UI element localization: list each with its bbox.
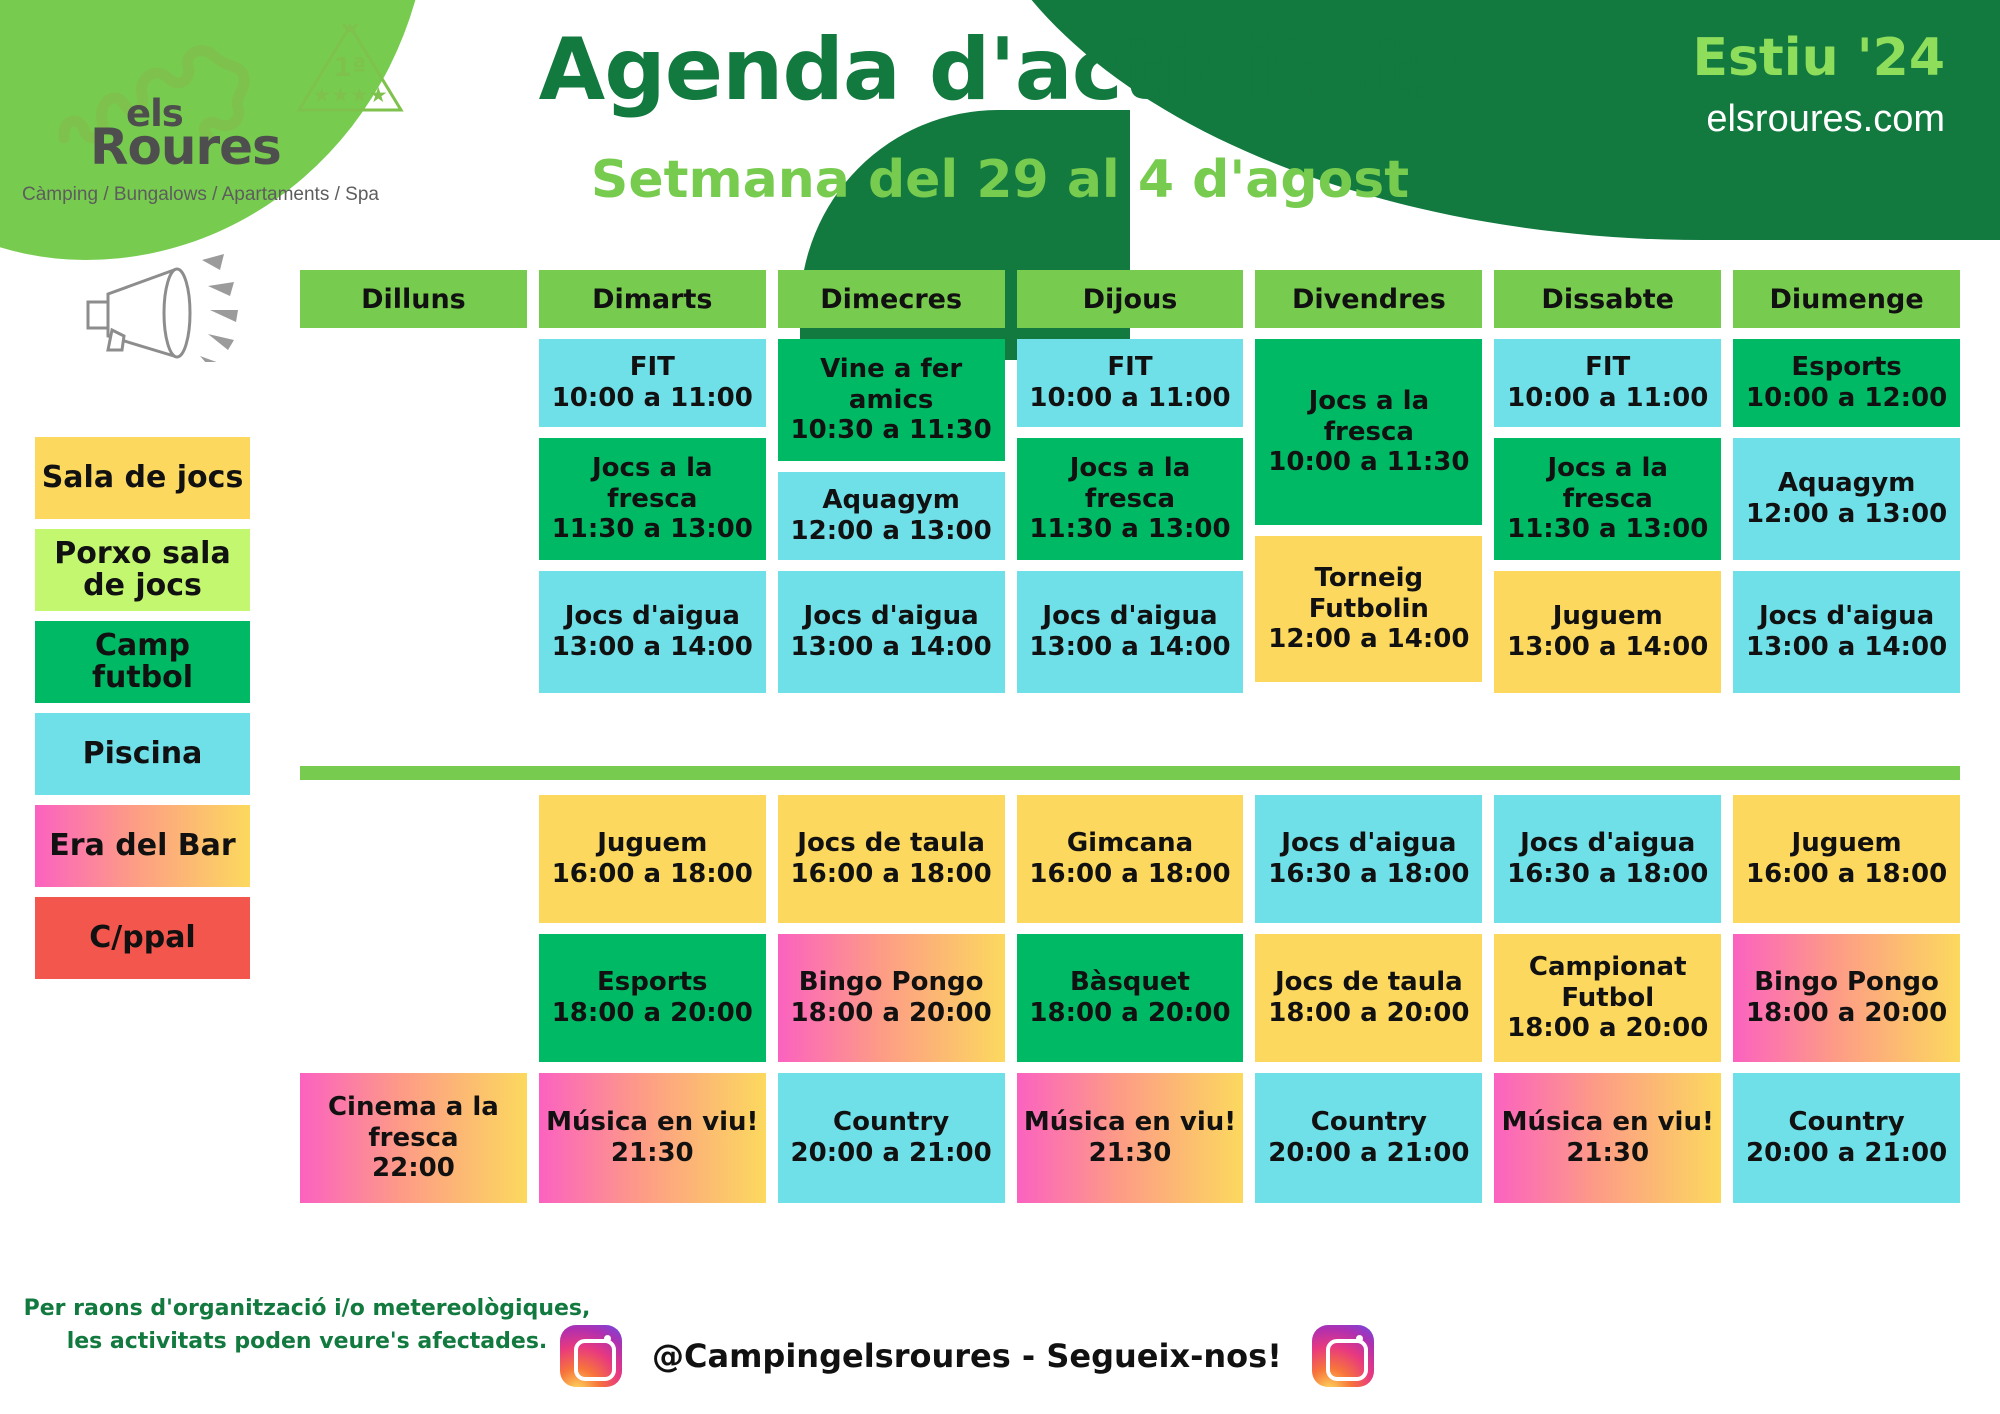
day-header: Dimarts: [539, 270, 766, 328]
activity-time: 10:00 a 11:00: [552, 383, 753, 414]
activity-card[interactable]: Jocs de taula16:00 a 18:00: [778, 795, 1005, 923]
activity-time: 16:00 a 18:00: [552, 859, 753, 890]
activity-card[interactable]: Cinema a la fresca22:00: [300, 1073, 527, 1203]
activity-name: Jocs a la fresca: [1261, 386, 1476, 447]
poster: els Roures 1ª ★★★★ Càmping / Bungalows /…: [0, 0, 2000, 1414]
activity-time: 13:00 a 14:00: [1029, 632, 1230, 663]
activity-card[interactable]: Jocs d'aigua13:00 a 14:00: [1017, 571, 1244, 693]
activity-name: Country: [1788, 1107, 1904, 1138]
megaphone-icon: [78, 252, 253, 362]
activity-name: Bingo Pongo: [799, 967, 984, 998]
activity-time: 20:00 a 21:00: [1746, 1138, 1947, 1169]
activity-name: Jocs de taula: [1275, 967, 1463, 998]
activity-card[interactable]: Jocs d'aigua13:00 a 14:00: [778, 571, 1005, 693]
day-header: Dissabte: [1494, 270, 1721, 328]
schedule-morning-grid: DillunsDimartsFIT10:00 a 11:00Jocs a la …: [300, 270, 1960, 704]
activity-name: Jocs d'aigua: [1520, 828, 1695, 859]
activity-time: 18:00 a 20:00: [1507, 1013, 1708, 1044]
activity-name: Campionat Futbol: [1500, 952, 1715, 1013]
activity-card[interactable]: Juguem16:00 a 18:00: [1733, 795, 1960, 923]
legend-item: C/ppal: [35, 897, 250, 979]
day-column: DiumengeEsports10:00 a 12:00Aquagym12:00…: [1733, 270, 1960, 704]
activity-name: FIT: [1107, 352, 1152, 383]
activity-card[interactable]: Aquagym12:00 a 13:00: [778, 472, 1005, 560]
day-column: Jocs d'aigua16:30 a 18:00Jocs de taula18…: [1255, 795, 1482, 1214]
activity-time: 10:00 a 11:30: [1268, 447, 1469, 478]
legend-item-label: Porxo sala de jocs: [41, 538, 244, 603]
activity-name: Vine a fer amics: [784, 354, 999, 415]
activity-card[interactable]: Jocs d'aigua13:00 a 14:00: [1733, 571, 1960, 693]
activity-name: Gimcana: [1067, 828, 1193, 859]
activity-time: 13:00 a 14:00: [791, 632, 992, 663]
activity-name: Jocs a la fresca: [545, 453, 760, 514]
activity-card[interactable]: Música en viu!21:30: [1017, 1073, 1244, 1203]
activity-card[interactable]: Jocs d'aigua13:00 a 14:00: [539, 571, 766, 693]
day-column: Dilluns: [300, 270, 527, 704]
activity-card[interactable]: Aquagym12:00 a 13:00: [1733, 438, 1960, 560]
activity-name: Música en viu!: [1502, 1107, 1714, 1138]
day-header-label: Dijous: [1083, 284, 1178, 315]
activity-time: 12:00 a 13:00: [1746, 499, 1947, 530]
activity-name: Jocs d'aigua: [1281, 828, 1456, 859]
activity-time: 12:00 a 14:00: [1268, 624, 1469, 655]
legend-item: Era del Bar: [35, 805, 250, 887]
activity-name: Torneig Futbolin: [1261, 563, 1476, 624]
activity-name: Cinema a la fresca: [306, 1092, 521, 1153]
day-header: Dimecres: [778, 270, 1005, 328]
activity-card[interactable]: Bingo Pongo18:00 a 20:00: [778, 934, 1005, 1062]
activity-card[interactable]: Campionat Futbol18:00 a 20:00: [1494, 934, 1721, 1062]
activity-card[interactable]: Juguem13:00 a 14:00: [1494, 571, 1721, 693]
website-url[interactable]: elsroures.com: [1706, 98, 1945, 141]
activity-time: 21:30: [1089, 1138, 1172, 1169]
activity-time: 12:00 a 13:00: [791, 516, 992, 547]
activity-name: Aquagym: [1778, 468, 1915, 499]
activity-card[interactable]: Jocs a la fresca10:00 a 11:30: [1255, 339, 1482, 525]
legend-item-label: Era del Bar: [49, 830, 235, 862]
activity-card[interactable]: Gimcana16:00 a 18:00: [1017, 795, 1244, 923]
activity-name: Esports: [1791, 352, 1901, 383]
instagram-icon[interactable]: [1312, 1325, 1374, 1387]
activity-time: 16:30 a 18:00: [1507, 859, 1708, 890]
empty-slot: [300, 795, 527, 923]
activity-name: Música en viu!: [1024, 1107, 1236, 1138]
activity-time: 16:00 a 18:00: [1746, 859, 1947, 890]
activity-time: 20:00 a 21:00: [791, 1138, 992, 1169]
day-header-label: Divendres: [1292, 284, 1446, 315]
activity-time: 16:00 a 18:00: [1029, 859, 1230, 890]
activity-time: 10:00 a 11:00: [1029, 383, 1230, 414]
season-label: Estiu '24: [1692, 28, 1945, 88]
activity-card[interactable]: Bàsquet18:00 a 20:00: [1017, 934, 1244, 1062]
legend-item-label: Piscina: [83, 738, 203, 770]
activity-name: FIT: [630, 352, 675, 383]
day-column: Jocs de taula16:00 a 18:00Bingo Pongo18:…: [778, 795, 1005, 1214]
activity-name: Country: [833, 1107, 949, 1138]
day-column: Gimcana16:00 a 18:00Bàsquet18:00 a 20:00…: [1017, 795, 1244, 1214]
day-header: Dilluns: [300, 270, 527, 328]
activity-time: 13:00 a 14:00: [1746, 632, 1947, 663]
activity-time: 13:00 a 14:00: [552, 632, 753, 663]
day-header-label: Dimecres: [820, 284, 962, 315]
day-header-label: Dimarts: [592, 284, 712, 315]
activity-name: Jocs d'aigua: [1042, 601, 1217, 632]
social-bar: @Campingelsroures - Segueix-nos!: [560, 1325, 1374, 1387]
activity-name: Juguem: [597, 828, 707, 859]
legend-item: Piscina: [35, 713, 250, 795]
activity-card[interactable]: Jocs d'aigua16:30 a 18:00: [1255, 795, 1482, 923]
logo-tagline: Càmping / Bungalows / Apartaments / Spa: [22, 184, 379, 206]
activity-card[interactable]: Jocs a la fresca11:30 a 13:00: [539, 438, 766, 560]
activity-card[interactable]: Jocs a la fresca11:30 a 13:00: [1494, 438, 1721, 560]
logo: els Roures 1ª ★★★★ Càmping / Bungalows /…: [8, 14, 428, 154]
legend-item: Porxo sala de jocs: [35, 529, 250, 611]
activity-name: Jocs de taula: [797, 828, 985, 859]
activity-card[interactable]: Torneig Futbolin12:00 a 14:00: [1255, 536, 1482, 682]
day-header-label: Dilluns: [361, 284, 466, 315]
activity-time: 18:00 a 20:00: [791, 998, 992, 1029]
activity-card[interactable]: Jocs de taula18:00 a 20:00: [1255, 934, 1482, 1062]
disclaimer-note: Per raons d'organització i/o metereològi…: [22, 1292, 592, 1358]
legend-item-label: Camp futbol: [41, 630, 244, 695]
day-column: Jocs d'aigua16:30 a 18:00Campionat Futbo…: [1494, 795, 1721, 1214]
empty-slot: [300, 934, 527, 1062]
activity-card[interactable]: Country20:00 a 21:00: [1255, 1073, 1482, 1203]
activity-name: Country: [1311, 1107, 1427, 1138]
activity-time: 22:00: [372, 1153, 455, 1184]
activity-time: 18:00 a 20:00: [1746, 998, 1947, 1029]
day-column: DimartsFIT10:00 a 11:00Jocs a la fresca1…: [539, 270, 766, 704]
activity-time: 18:00 a 20:00: [1268, 998, 1469, 1029]
activity-time: 11:30 a 13:00: [1029, 514, 1230, 545]
activity-time: 16:30 a 18:00: [1268, 859, 1469, 890]
activity-time: 21:30: [611, 1138, 694, 1169]
legend-item-label: Sala de jocs: [42, 462, 244, 494]
activity-name: Jocs a la fresca: [1023, 453, 1238, 514]
activity-card[interactable]: Esports18:00 a 20:00: [539, 934, 766, 1062]
activity-name: Bingo Pongo: [1754, 967, 1939, 998]
activity-card[interactable]: Música en viu!21:30: [1494, 1073, 1721, 1203]
svg-text:★★★★: ★★★★: [312, 83, 387, 107]
activity-card[interactable]: Bingo Pongo18:00 a 20:00: [1733, 934, 1960, 1062]
day-column: Juguem16:00 a 18:00Esports18:00 a 20:00M…: [539, 795, 766, 1214]
day-column: DimecresVine a fer amics10:30 a 11:30Aqu…: [778, 270, 1005, 704]
activity-name: Aquagym: [822, 485, 959, 516]
legend: Sala de jocsPorxo sala de jocsCamp futbo…: [35, 437, 250, 989]
activity-time: 21:30: [1566, 1138, 1649, 1169]
tent-badge-icon: 1ª ★★★★: [293, 20, 408, 120]
schedule-afternoon-grid: Cinema a la fresca22:00Juguem16:00 a 18:…: [300, 795, 1960, 1214]
activity-card[interactable]: Country20:00 a 21:00: [1733, 1073, 1960, 1203]
logo-text-roures: Roures: [90, 118, 281, 176]
activity-name: Jocs d'aigua: [565, 601, 740, 632]
activity-time: 13:00 a 14:00: [1507, 632, 1708, 663]
activity-name: Jocs a la fresca: [1500, 453, 1715, 514]
day-column: Cinema a la fresca22:00: [300, 795, 527, 1214]
activity-card[interactable]: Country20:00 a 21:00: [778, 1073, 1005, 1203]
activity-time: 11:30 a 13:00: [1507, 514, 1708, 545]
activity-time: 10:30 a 11:30: [791, 415, 992, 446]
day-header: Divendres: [1255, 270, 1482, 328]
activity-name: Bàsquet: [1070, 967, 1190, 998]
day-column: DissabteFIT10:00 a 11:00Jocs a la fresca…: [1494, 270, 1721, 704]
activity-card[interactable]: FIT10:00 a 11:00: [1017, 339, 1244, 427]
activity-card[interactable]: Jocs a la fresca11:30 a 13:00: [1017, 438, 1244, 560]
activity-card[interactable]: Jocs d'aigua16:30 a 18:00: [1494, 795, 1721, 923]
instagram-icon[interactable]: [560, 1325, 622, 1387]
activity-time: 16:00 a 18:00: [791, 859, 992, 890]
social-handle: @Campingelsroures - Segueix-nos!: [652, 1337, 1282, 1375]
activity-card[interactable]: Juguem16:00 a 18:00: [539, 795, 766, 923]
activity-time: 10:00 a 12:00: [1746, 383, 1947, 414]
legend-item-label: C/ppal: [89, 922, 195, 954]
activity-card[interactable]: Vine a fer amics10:30 a 11:30: [778, 339, 1005, 461]
activity-name: Esports: [597, 967, 707, 998]
activity-name: Jocs d'aigua: [804, 601, 979, 632]
activity-name: Juguem: [1792, 828, 1902, 859]
activity-time: 18:00 a 20:00: [552, 998, 753, 1029]
day-column: DijousFIT10:00 a 11:00Jocs a la fresca11…: [1017, 270, 1244, 704]
day-header-label: Diumenge: [1769, 284, 1923, 315]
activity-name: Juguem: [1553, 601, 1663, 632]
activity-card[interactable]: FIT10:00 a 11:00: [539, 339, 766, 427]
logo-mark: els Roures 1ª ★★★★: [8, 14, 428, 154]
svg-text:1ª: 1ª: [334, 53, 367, 83]
day-header: Diumenge: [1733, 270, 1960, 328]
legend-item: Sala de jocs: [35, 437, 250, 519]
activity-name: Jocs d'aigua: [1759, 601, 1934, 632]
day-header: Dijous: [1017, 270, 1244, 328]
activity-name: Música en viu!: [546, 1107, 758, 1138]
activity-card[interactable]: FIT10:00 a 11:00: [1494, 339, 1721, 427]
activity-card[interactable]: Música en viu!21:30: [539, 1073, 766, 1203]
section-divider: [300, 766, 1960, 780]
day-column: Juguem16:00 a 18:00Bingo Pongo18:00 a 20…: [1733, 795, 1960, 1214]
activity-time: 18:00 a 20:00: [1029, 998, 1230, 1029]
legend-item: Camp futbol: [35, 621, 250, 703]
day-column: DivendresJocs a la fresca10:00 a 11:30To…: [1255, 270, 1482, 704]
day-header-label: Dissabte: [1541, 284, 1674, 315]
activity-card[interactable]: Esports10:00 a 12:00: [1733, 339, 1960, 427]
activity-name: FIT: [1585, 352, 1630, 383]
activity-time: 11:30 a 13:00: [552, 514, 753, 545]
activity-time: 10:00 a 11:00: [1507, 383, 1708, 414]
activity-time: 20:00 a 21:00: [1268, 1138, 1469, 1169]
